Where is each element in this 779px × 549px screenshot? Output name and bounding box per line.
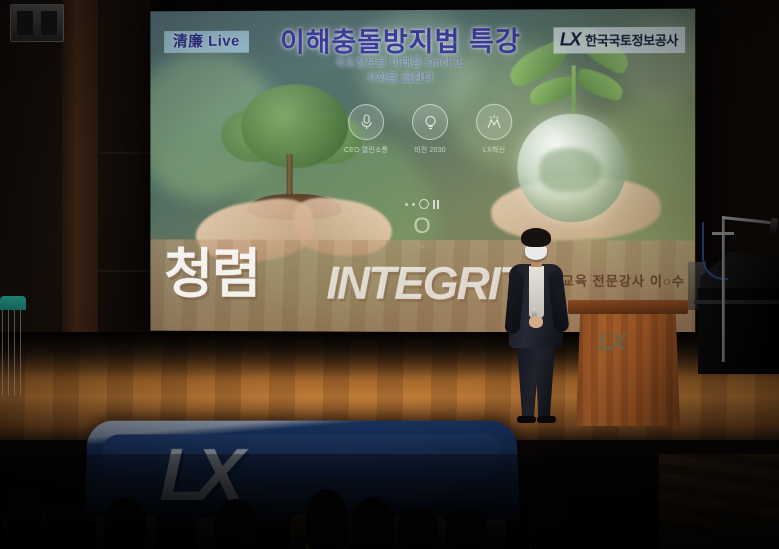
pause-icon[interactable] <box>433 200 439 209</box>
speaker-hand <box>529 316 543 328</box>
audience-darkness <box>0 454 779 549</box>
player-dot <box>412 202 415 205</box>
microphone-icon <box>348 104 384 140</box>
speaker-shoe <box>517 416 536 423</box>
podium-body <box>576 314 680 426</box>
feature-label: 비전 2030 <box>404 145 456 155</box>
speaker-legs <box>517 344 555 420</box>
feature-label: LX혁신 <box>468 145 520 155</box>
audience-row <box>0 454 779 549</box>
podium-lx-logo: LX <box>598 328 624 357</box>
player-dot <box>405 202 408 205</box>
podium-top <box>568 300 688 314</box>
face-mask <box>525 245 547 260</box>
feature-item-innovation: LX혁신 <box>468 104 520 155</box>
corporate-name: 한국국토정보공사 <box>585 30 678 50</box>
microphone-stand-pole <box>722 216 725 362</box>
feature-item-ceo: CEO 열린소통 <box>340 104 392 155</box>
lx-logo-mark: LX <box>560 29 580 50</box>
sign-support-legs <box>2 310 26 396</box>
speaker-presenter <box>505 228 567 424</box>
piano-rail <box>694 300 779 304</box>
wood-grain <box>576 314 680 426</box>
player-center-glyph: O <box>394 216 450 236</box>
feature-item-vision: 비전 2030 <box>404 104 456 155</box>
ceiling-light-fixture <box>10 4 64 42</box>
corporate-logo: LX 한국국토정보공사 <box>554 27 685 54</box>
exit-sign <box>0 296 26 310</box>
banner-korean-text: 청렴 <box>164 245 260 303</box>
speaker-shoe <box>537 416 556 423</box>
slide-header: 清廉 Live 이해충돌방지법 특강 국토정보로 미래를 On하고, 사회를 溫… <box>150 17 695 63</box>
lectern-podium: LX <box>572 300 684 428</box>
lightbulb-icon <box>412 104 448 140</box>
player-circle-icon[interactable] <box>419 199 429 209</box>
feature-label: CEO 열린소통 <box>340 145 392 155</box>
speaker-hair <box>521 228 551 247</box>
player-controls[interactable] <box>394 198 450 210</box>
stand-crossbar <box>712 232 734 235</box>
feature-icon-row: CEO 열린소통 비전 2030 <box>340 104 520 155</box>
auditorium-scene: 清廉 Live 이해충돌방지법 특강 국토정보로 미래를 On하고, 사회를 溫… <box>0 0 779 549</box>
live-badge: 清廉 Live <box>164 31 249 53</box>
slide-title: 이해충돌방지법 특강 <box>271 19 531 59</box>
slide-subtitle: 국토정보로 미래를 On하고, 사회를 溫한다 <box>261 56 541 87</box>
handshake-icon <box>476 104 512 140</box>
wall-seam <box>98 152 150 154</box>
wall-seam <box>98 270 150 272</box>
projection-screen: 清廉 Live 이해충돌방지법 특강 국토정보로 미래를 On하고, 사회를 溫… <box>150 9 695 334</box>
